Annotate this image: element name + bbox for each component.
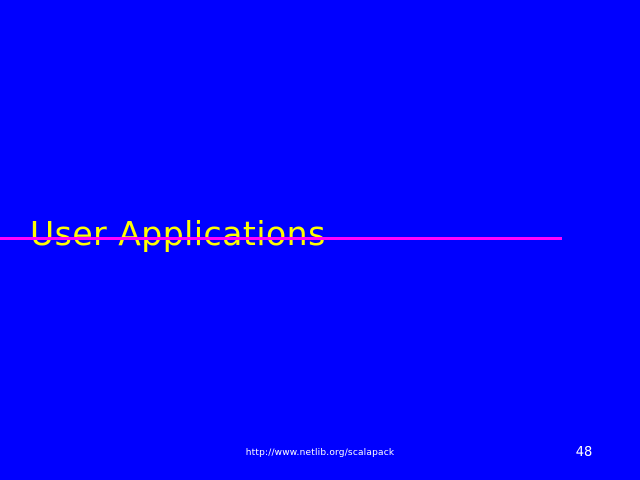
page-number: 48 (560, 445, 608, 461)
page-title: User Applications (30, 214, 326, 254)
slide-body-content (30, 255, 610, 435)
title-divider (0, 237, 562, 240)
footer-url[interactable]: http://www.netlib.org/scalapack (0, 447, 640, 459)
presentation-slide: User Applications http://www.netlib.org/… (0, 0, 640, 480)
